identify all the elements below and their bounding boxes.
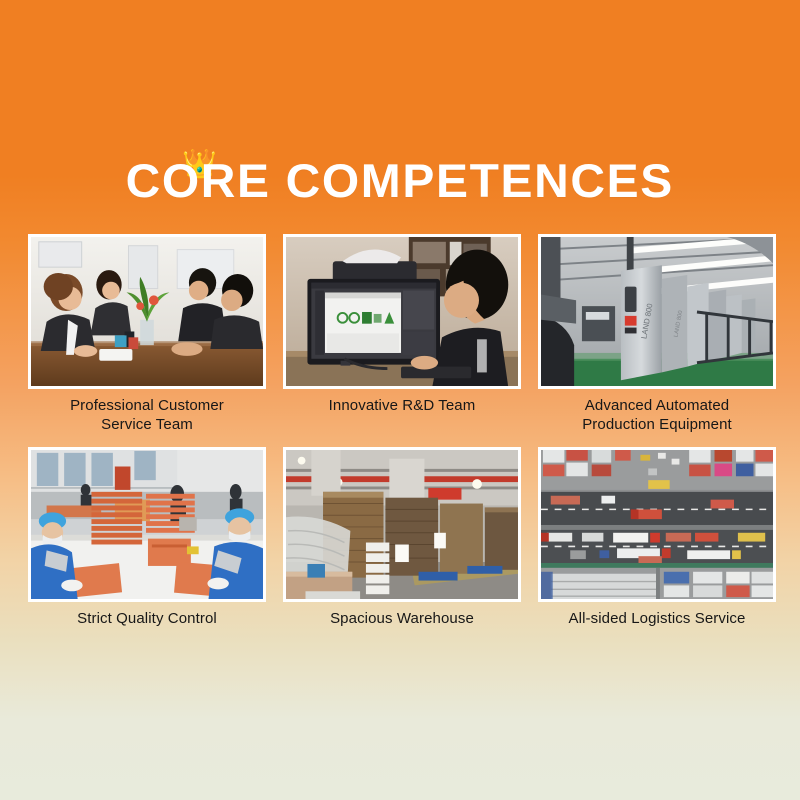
photo-all-sided-logistics-service xyxy=(538,447,776,602)
caption-line-1: Spacious Warehouse xyxy=(283,609,521,628)
caption-line-1: All-sided Logistics Service xyxy=(538,609,776,628)
caption-all-sided-logistics-service: All-sided Logistics Service xyxy=(538,609,776,628)
core-competences-banner: 👑 CORE COMPETENCES xyxy=(0,0,800,800)
photo-innovative-rd-team xyxy=(283,234,521,389)
caption-line-2: Service Team xyxy=(28,415,266,434)
caption-spacious-warehouse: Spacious Warehouse xyxy=(283,609,521,628)
page-title: CORE COMPETENCES xyxy=(126,152,674,210)
competence-card-advanced-automated-production-equipment[interactable]: LAND 800 LAND 800 xyxy=(538,234,776,434)
photo-advanced-automated-production-equipment: LAND 800 LAND 800 xyxy=(538,234,776,389)
caption-advanced-automated-production-equipment: Advanced Automated Production Equipment xyxy=(538,396,776,434)
photo-strict-quality-control xyxy=(28,447,266,602)
photo-spacious-warehouse xyxy=(283,447,521,602)
competence-card-all-sided-logistics-service[interactable]: All-sided Logistics Service xyxy=(538,447,776,628)
caption-innovative-rd-team: Innovative R&D Team xyxy=(283,396,521,415)
competence-card-strict-quality-control[interactable]: Strict Quality Control xyxy=(28,447,266,628)
caption-line-1: Innovative R&D Team xyxy=(283,396,521,415)
caption-professional-customer-service-team: Professional Customer Service Team xyxy=(28,396,266,434)
competence-card-innovative-rd-team[interactable]: Innovative R&D Team xyxy=(283,234,521,434)
photo-professional-customer-service-team xyxy=(28,234,266,389)
caption-line-1: Professional Customer xyxy=(28,396,266,415)
caption-line-1: Strict Quality Control xyxy=(28,609,266,628)
caption-strict-quality-control: Strict Quality Control xyxy=(28,609,266,628)
competence-card-professional-customer-service-team[interactable]: Professional Customer Service Team xyxy=(28,234,266,434)
page-header: 👑 CORE COMPETENCES xyxy=(0,152,800,210)
caption-line-2: Production Equipment xyxy=(538,415,776,434)
competence-card-grid: Professional Customer Service Team xyxy=(28,234,772,628)
caption-line-1: Advanced Automated xyxy=(538,396,776,415)
competence-card-spacious-warehouse[interactable]: Spacious Warehouse xyxy=(283,447,521,628)
